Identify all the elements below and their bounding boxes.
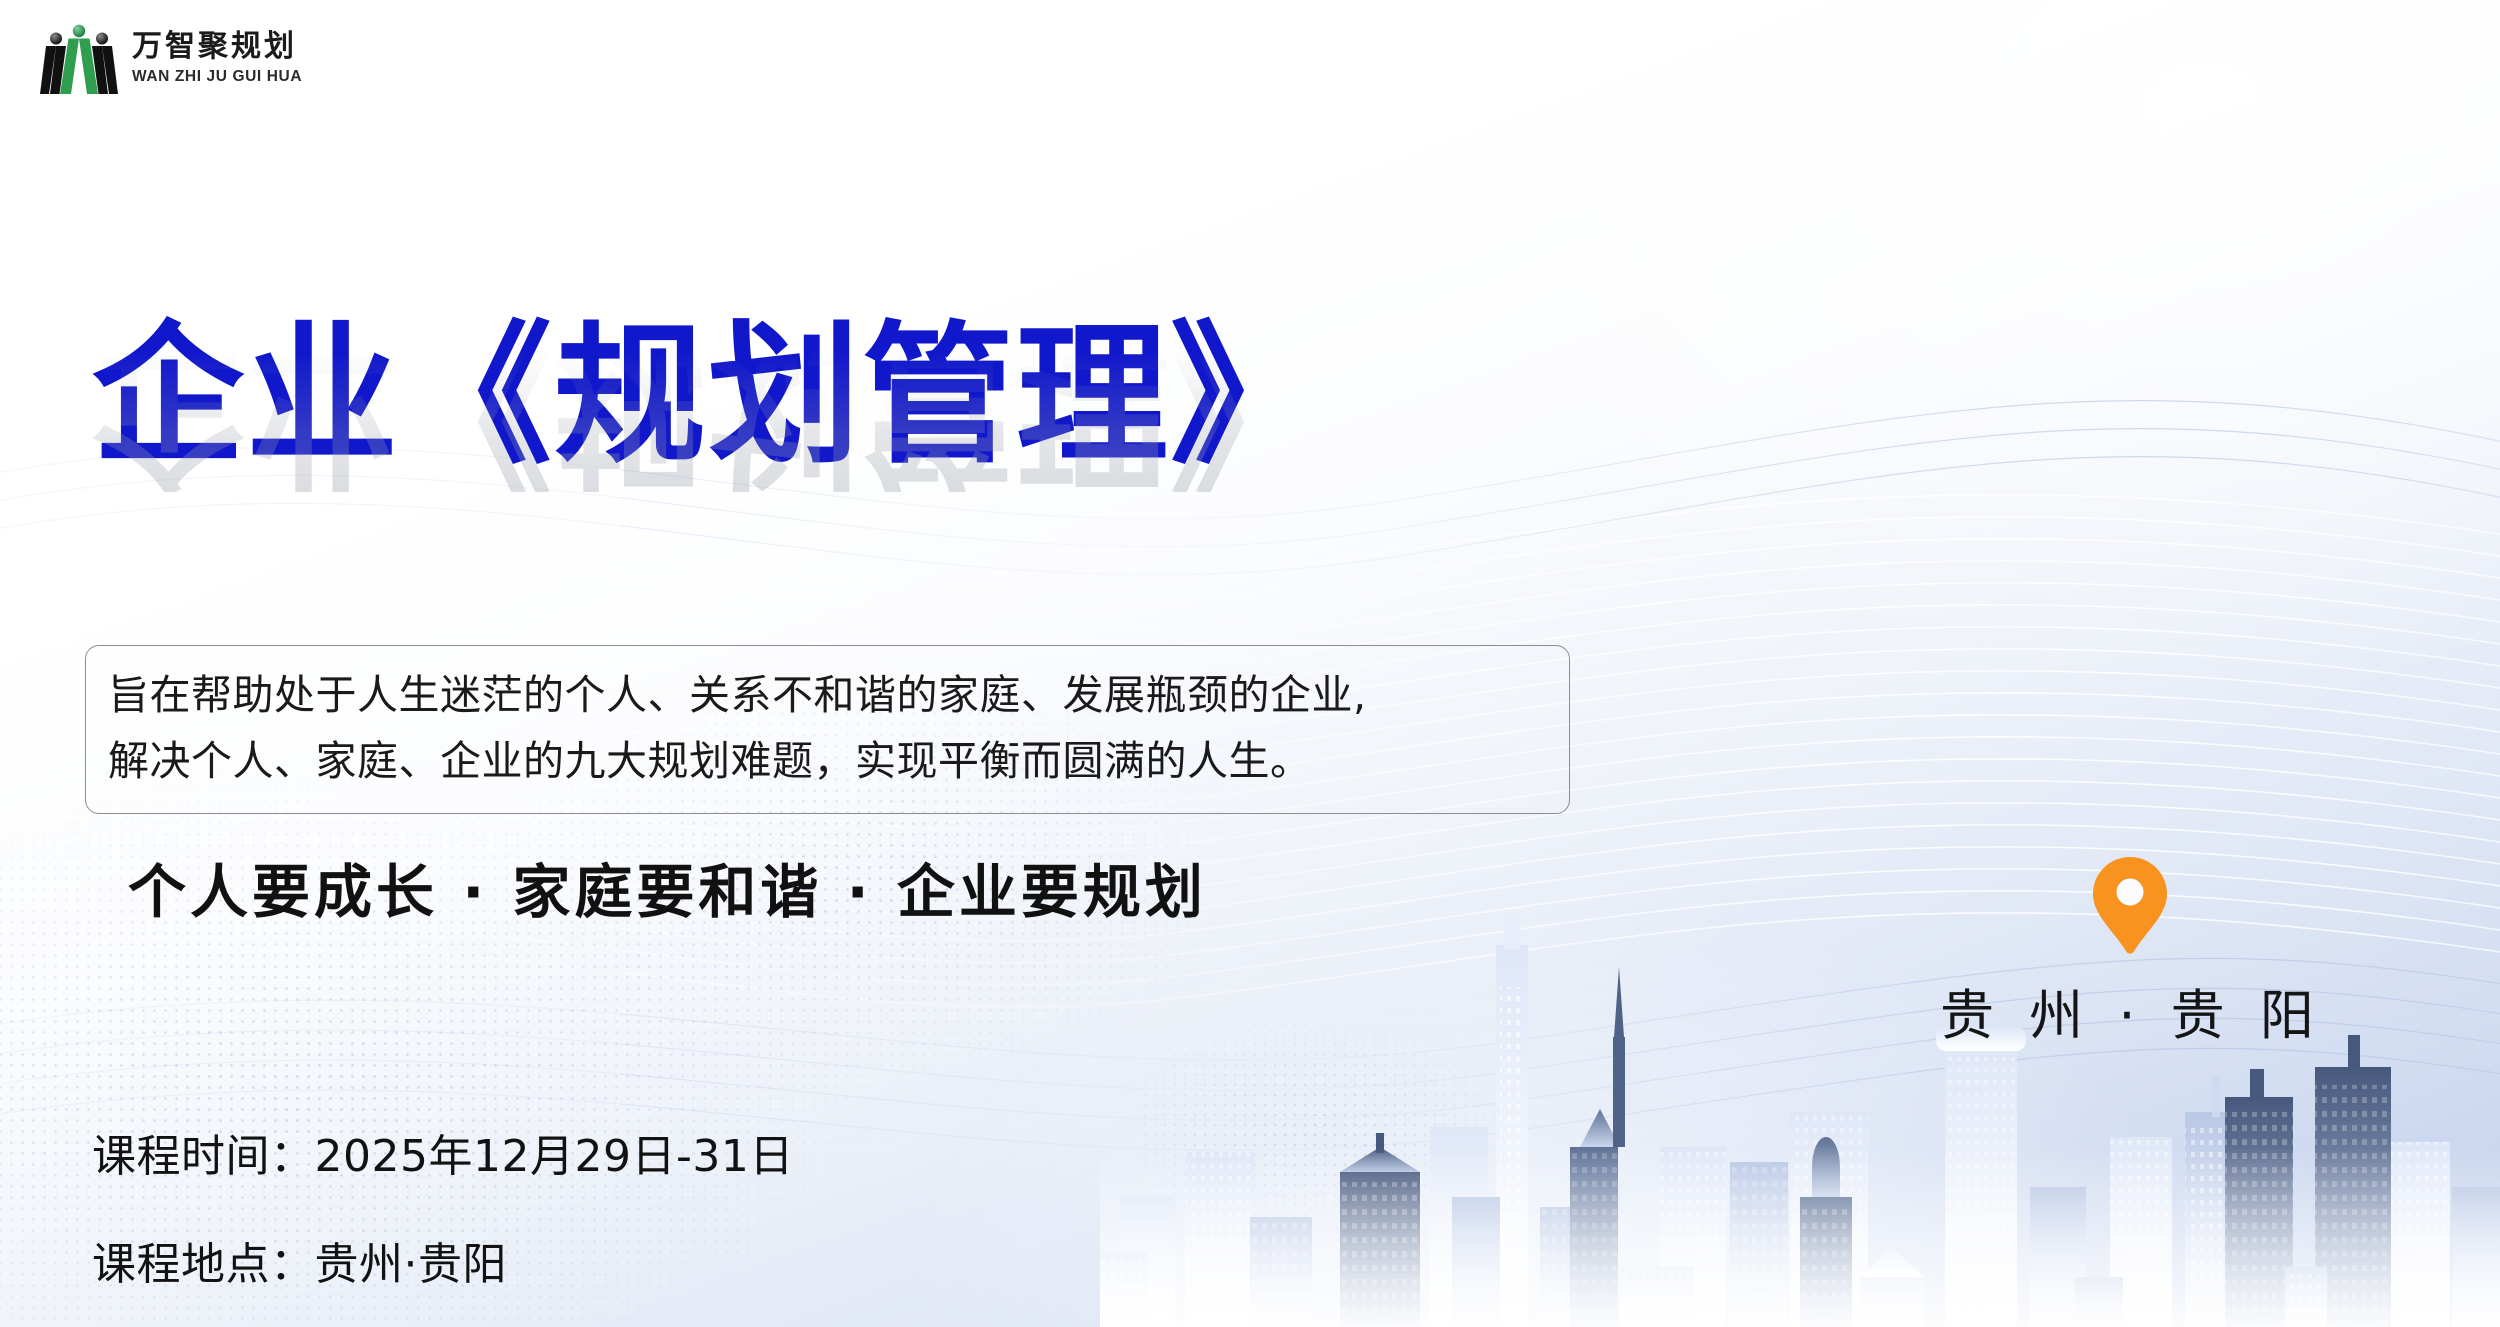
- hero-title-block: 企业《规划管理》 企业《规划管理》: [92, 320, 1692, 580]
- description-line-1: 旨在帮助处于人生迷茫的个人、关系不和谐的家庭、发展瓶颈的企业,: [108, 662, 1549, 728]
- brand-name-cn: 万智聚规划: [132, 32, 302, 62]
- brand-logo: 万智聚规划 WAN ZHI JU GUI HUA: [40, 22, 302, 94]
- three-people-mountain-logo-icon: [40, 22, 118, 94]
- course-time: 课程时间：2025年12月29日-31日: [92, 1120, 794, 1184]
- hero-title-reflection: 企业《规划管理》: [92, 340, 1324, 492]
- description-line-2: 解决个人、家庭、企业的九大规划难题，实现平衡而圆满的人生。: [108, 728, 1549, 794]
- location-block: 贵 州 · 贵 阳: [1940, 855, 2320, 1050]
- description-box: 旨在帮助处于人生迷茫的个人、关系不和谐的家庭、发展瓶颈的企业, 解决个人、家庭、…: [85, 645, 1570, 814]
- slogan-text: 个人要成长 · 家庭要和谐 · 企业要规划: [128, 845, 1207, 929]
- course-info-block: 课程时间：2025年12月29日-31日 课程地点：贵州·贵阳: [92, 1120, 794, 1292]
- course-place: 课程地点：贵州·贵阳: [92, 1228, 794, 1292]
- map-pin-icon: [2091, 855, 2169, 955]
- promotional-banner: 万智聚规划 WAN ZHI JU GUI HUA 企业《规划管理》 企业《规划管…: [0, 0, 2500, 1327]
- brand-name-en: WAN ZHI JU GUI HUA: [132, 69, 302, 85]
- location-label: 贵 州 · 贵 阳: [1940, 971, 2320, 1050]
- brand-name-group: 万智聚规划 WAN ZHI JU GUI HUA: [132, 32, 302, 85]
